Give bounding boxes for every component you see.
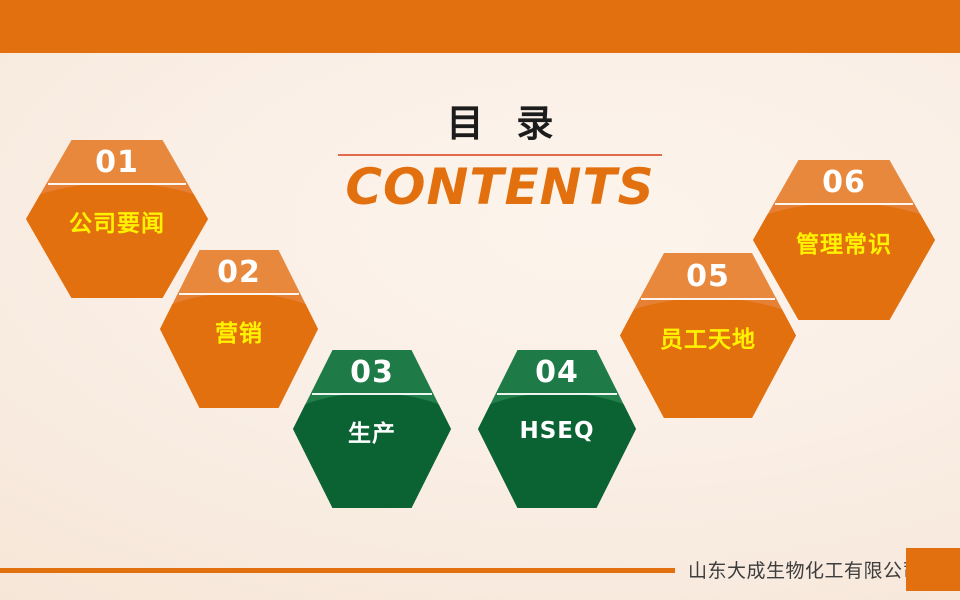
hex-divider (179, 293, 299, 295)
hex-number-06: 06 (753, 162, 935, 204)
hex-divider (497, 393, 617, 395)
hex-label-01: 公司要闻 (26, 194, 208, 248)
page-title-en: CONTENTS (340, 158, 660, 216)
title-block: 目 录 CONTENTS (340, 100, 660, 216)
footer-company-name: 山东大成生物化工有限公司 (688, 556, 903, 586)
hex-number-03: 03 (293, 352, 451, 393)
content-hexagon-02[interactable]: 02 营销 (160, 250, 318, 408)
hex-divider (48, 183, 186, 185)
hex-label-04: HSEQ (478, 404, 636, 458)
hex-divider (641, 298, 775, 300)
title-divider (338, 154, 662, 156)
content-hexagon-04[interactable]: 04 HSEQ (478, 350, 636, 508)
hex-label-03: 生产 (293, 404, 451, 458)
top-accent-bar (0, 0, 960, 53)
hex-number-01: 01 (26, 142, 208, 183)
hex-divider (312, 393, 432, 395)
hex-label-02: 营销 (160, 304, 318, 358)
footer-accent-block (906, 548, 960, 591)
content-hexagon-03[interactable]: 03 生产 (293, 350, 451, 508)
hex-number-04: 04 (478, 352, 636, 393)
hex-label-05: 员工天地 (620, 309, 796, 365)
contents-slide: 目 录 CONTENTS 01 公司要闻 02 营销 03 生产 04 HSE (0, 0, 960, 600)
content-hexagon-05[interactable]: 05 员工天地 (620, 253, 796, 418)
hex-divider (775, 203, 913, 205)
content-hexagon-06[interactable]: 06 管理常识 (753, 160, 935, 320)
footer-rule (0, 568, 675, 573)
content-hexagon-01[interactable]: 01 公司要闻 (26, 140, 208, 298)
hex-label-06: 管理常识 (753, 214, 935, 268)
page-title-cn: 目 录 (340, 100, 660, 148)
